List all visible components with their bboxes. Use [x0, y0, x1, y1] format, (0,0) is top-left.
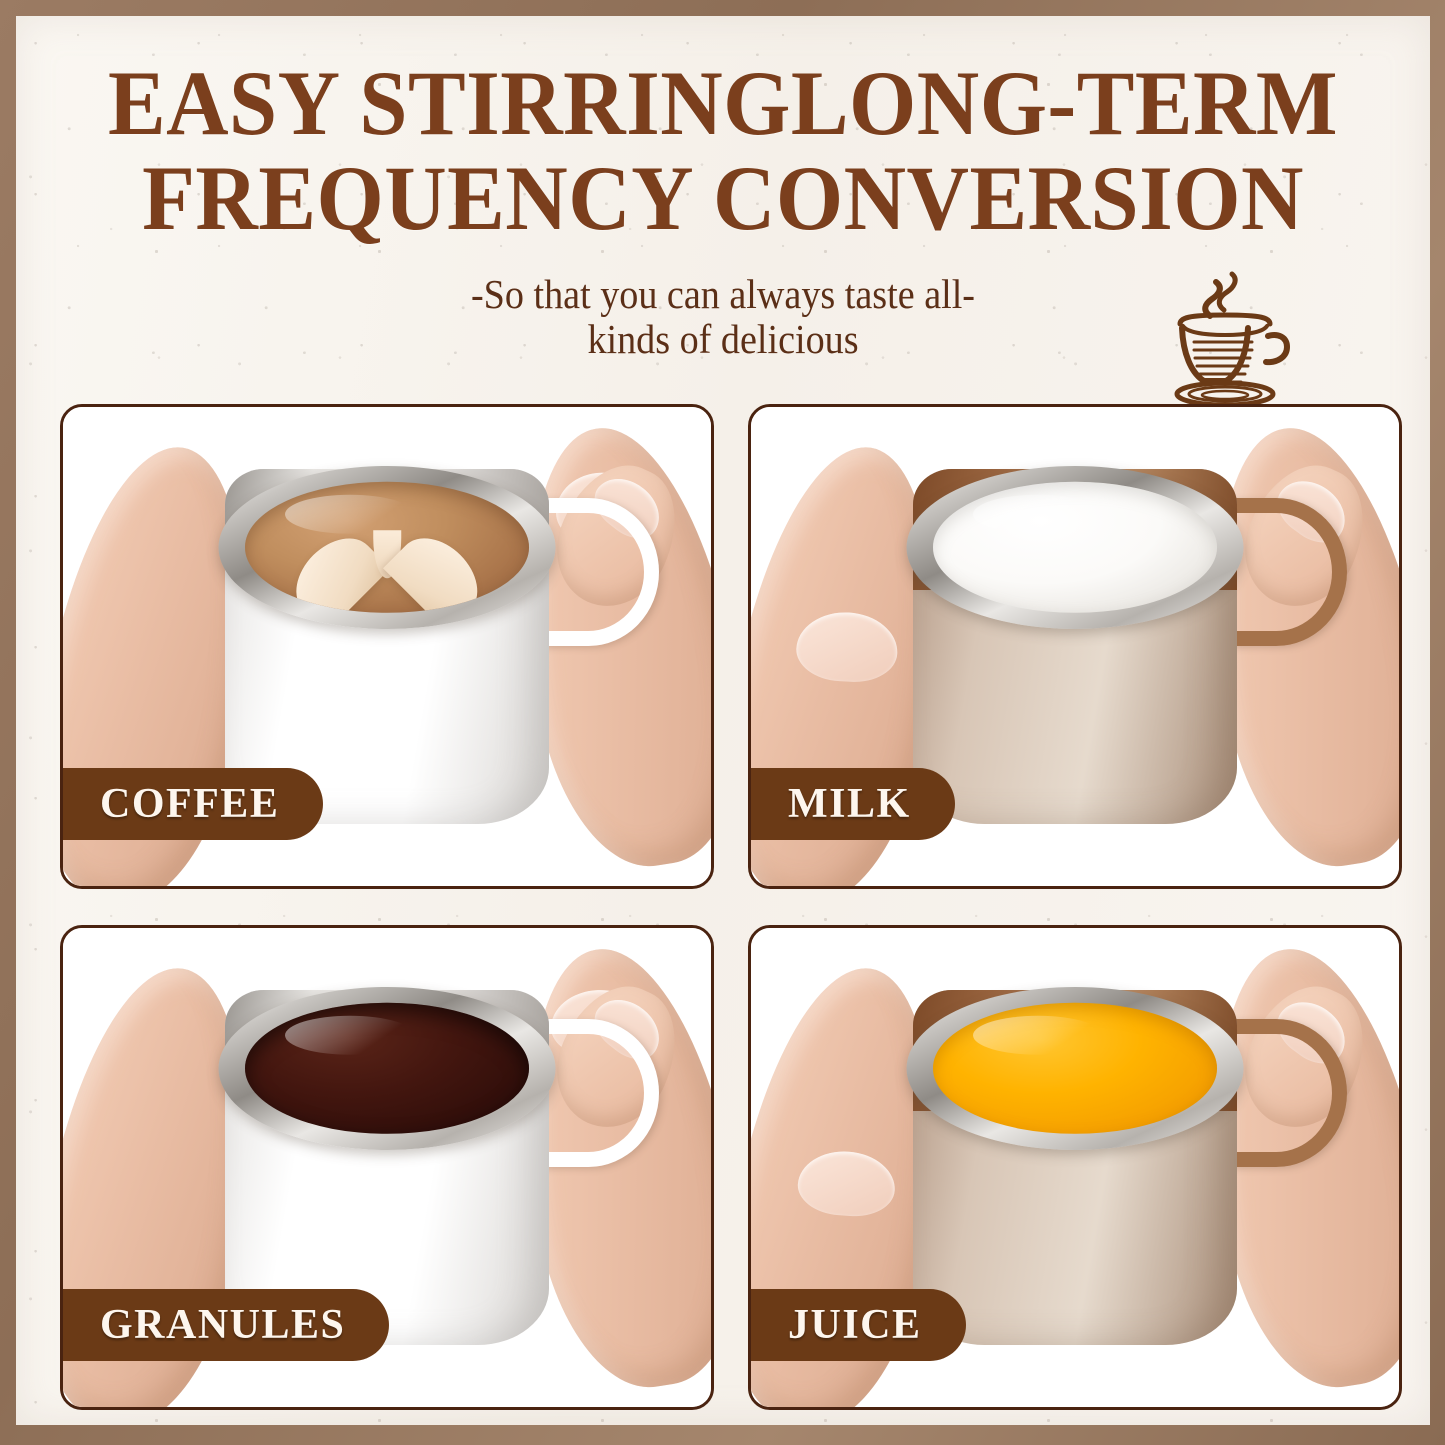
title-line-1: EASY STIRRINGLONG-TERM	[90, 56, 1355, 151]
liquid-gloss	[973, 495, 1103, 534]
liquid-gloss	[285, 1016, 415, 1055]
photo-card-juice[interactable]: JUICE	[748, 925, 1402, 1410]
label-badge-text: COFFEE	[100, 783, 279, 825]
mug-rim	[219, 466, 556, 629]
title-line-2: FREQUENCY CONVERSION	[90, 151, 1355, 246]
coffee-cup-icon	[1150, 268, 1300, 418]
label-badge-granules: GRANULES	[60, 1289, 389, 1361]
poster-page: EASY STIRRINGLONG-TERM FREQUENCY CONVERS…	[16, 16, 1430, 1425]
subtitle-line-1: -So that you can always taste all-	[344, 272, 1101, 318]
subtitle-line-2: kinds of delicious	[344, 317, 1101, 363]
liquid-dark-coffee	[245, 1003, 528, 1133]
liquid-milk	[933, 482, 1216, 612]
mug-rim	[907, 987, 1244, 1150]
latte-art-heart	[299, 501, 474, 587]
mug	[913, 469, 1237, 823]
label-badge-text: MILK	[788, 783, 911, 825]
label-badge-coffee: COFFEE	[60, 768, 323, 840]
liquid-juice	[933, 1003, 1216, 1133]
liquid-gloss	[973, 1016, 1103, 1055]
label-badge-text: GRANULES	[100, 1304, 345, 1346]
fingernail	[795, 610, 900, 684]
photo-card-coffee[interactable]: COFFEE	[60, 404, 714, 889]
product-photo-grid: COFFEE	[60, 404, 1402, 1410]
label-badge-milk: MILK	[748, 768, 955, 840]
fingernail	[796, 1149, 897, 1220]
label-badge-juice: JUICE	[748, 1289, 966, 1361]
latte-art-heart-tip	[373, 530, 401, 578]
photo-card-milk[interactable]: MILK	[748, 404, 1402, 889]
poster-frame: EASY STIRRINGLONG-TERM FREQUENCY CONVERS…	[0, 0, 1445, 1445]
mug-rim	[907, 466, 1244, 629]
mug-rim	[219, 987, 556, 1150]
label-badge-text: JUICE	[788, 1304, 922, 1346]
photo-card-granules[interactable]: GRANULES	[60, 925, 714, 1410]
liquid-coffee	[245, 482, 528, 612]
mug	[913, 990, 1237, 1344]
page-title: EASY STIRRINGLONG-TERM FREQUENCY CONVERS…	[58, 56, 1387, 246]
